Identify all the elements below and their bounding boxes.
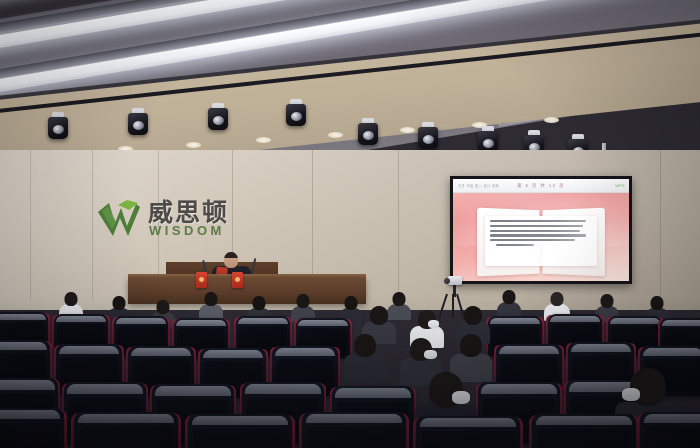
stage-light-icon — [48, 112, 68, 142]
downlight-icon — [256, 137, 271, 143]
auditorium-seat — [416, 416, 520, 448]
slide-text-block — [485, 216, 598, 266]
auditorium-seat — [188, 414, 292, 448]
speaker-head — [224, 252, 238, 268]
slide-content — [453, 193, 629, 281]
audience-person — [452, 334, 490, 376]
stage-light-icon — [358, 118, 378, 148]
stage-light-icon — [418, 122, 438, 152]
auditorium-seat — [0, 408, 64, 448]
face-mask-icon — [424, 350, 437, 359]
auditorium-seat — [532, 414, 636, 448]
downlight-icon — [186, 142, 201, 148]
downlight-icon — [400, 127, 415, 133]
auditorium-seat — [74, 412, 178, 448]
conference-hall-photo: 威思顿 WISDOM 文件 开始 插入 设计 切换 第 5 页 共 12 页 W… — [0, 0, 700, 448]
camera-lens-icon — [444, 278, 450, 284]
red-booklet — [232, 272, 243, 288]
wisdom-w-mark-icon — [96, 196, 142, 238]
downlight-icon — [328, 132, 343, 138]
slide-toolbar: 文件 开始 插入 设计 切换 第 5 页 共 12 页 WPS — [453, 179, 629, 193]
toolbar-app-label: WPS — [615, 184, 625, 188]
stage-light-icon — [208, 103, 228, 133]
tripod-column — [453, 285, 456, 297]
video-camera-icon — [448, 276, 462, 285]
auditorium-seat — [640, 412, 700, 448]
face-mask-icon — [428, 320, 439, 328]
tripod-leg — [452, 294, 454, 318]
slide-page-indicator: 第 5 页 共 12 页 — [517, 183, 565, 189]
audience-person — [292, 294, 314, 320]
toolbar-menu-text: 文件 开始 插入 设计 切换 — [458, 183, 499, 188]
audience-person — [498, 290, 520, 316]
auditorium-seat — [302, 412, 406, 448]
downlight-icon — [544, 117, 559, 123]
company-logo: 威思顿 WISDOM — [96, 192, 248, 250]
audience-person — [346, 334, 384, 376]
logo-english-text: WISDOM — [149, 223, 225, 238]
stage-light-icon — [286, 99, 306, 129]
projection-screen: 文件 开始 插入 设计 切换 第 5 页 共 12 页 WPS — [450, 176, 632, 284]
stage-light-icon — [128, 108, 148, 138]
face-mask-icon — [452, 391, 470, 404]
red-booklet — [196, 272, 207, 288]
face-mask-icon — [622, 388, 640, 401]
audience-person — [200, 292, 222, 318]
